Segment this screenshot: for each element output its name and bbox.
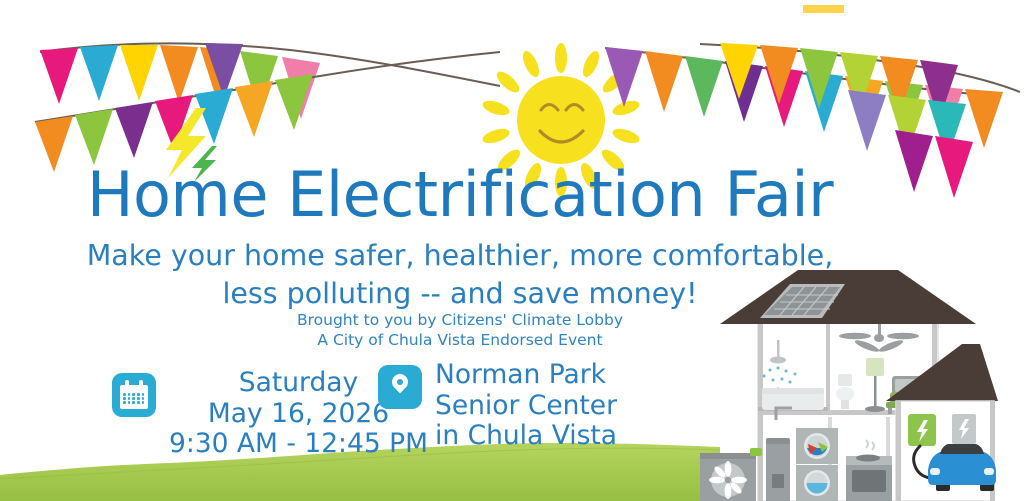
map-pin-icon — [378, 365, 422, 409]
venue-text: Norman Park Senior Center in Chula Vista — [435, 360, 617, 452]
credit-line-2: A City of Chula Vista Endorsed Event — [0, 331, 920, 351]
credit-line-1: Brought to you by Citizens' Climate Lobb… — [297, 311, 623, 329]
subtitle: Make your home safer, healthier, more co… — [0, 237, 920, 312]
venue-line-2: Senior Center — [435, 391, 617, 422]
page-title: Home Electrification Fair — [0, 162, 920, 227]
calendar-icon — [112, 373, 156, 417]
event-poster: Home Electrification Fair Make your home… — [0, 0, 1024, 501]
electric-panel — [952, 414, 976, 444]
credits: Brought to you by Citizens' Climate Lobb… — [0, 311, 920, 351]
subtitle-line-2: less polluting -- and save money! — [0, 275, 920, 313]
venue-block: Norman Park Senior Center in Chula Vista — [378, 360, 617, 452]
subtitle-line-1: Make your home safer, healthier, more co… — [87, 239, 834, 272]
heat-pump — [700, 448, 762, 501]
venue-line-3: in Chula Vista — [435, 421, 617, 452]
bunting-flags-left-upper — [40, 43, 500, 119]
venue-line-1: Norman Park — [435, 360, 617, 391]
